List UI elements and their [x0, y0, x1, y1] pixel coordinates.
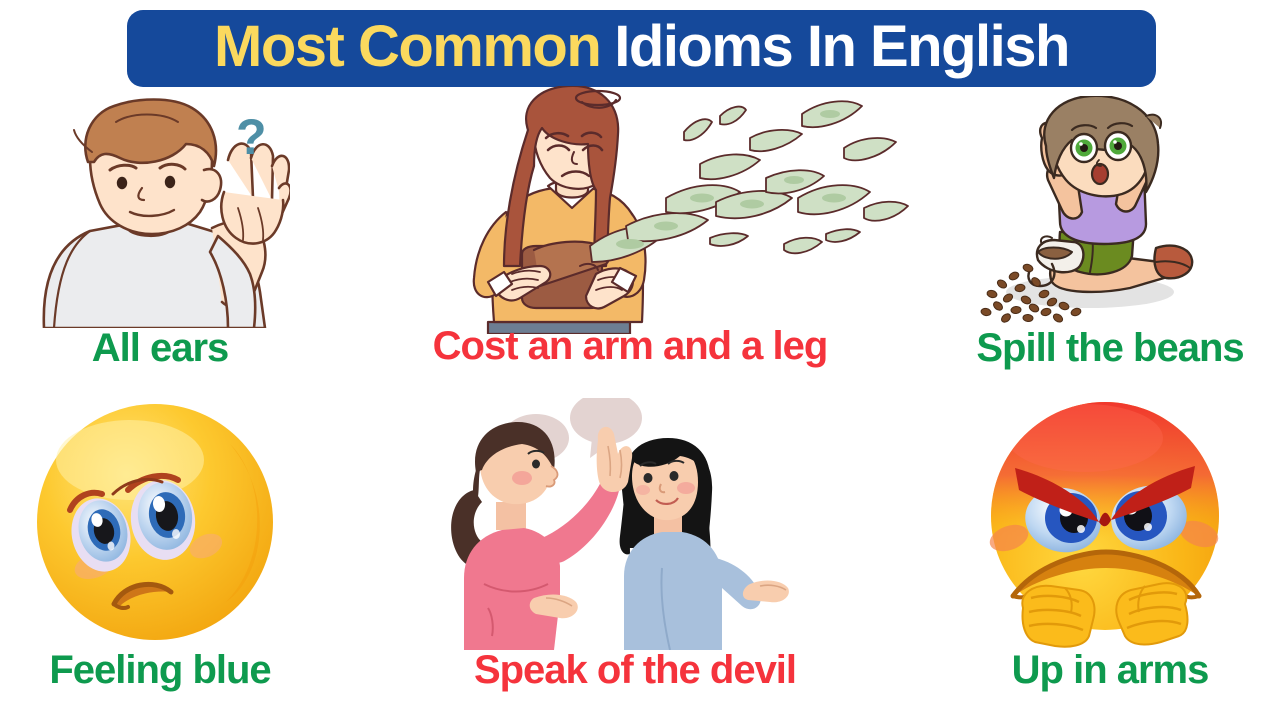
idiom-label-spill-the-beans: Spill the beans	[940, 328, 1280, 368]
illustration-angry-red-faced-emoji-with-fists	[975, 398, 1245, 648]
question-mark-glyph: ?	[236, 109, 267, 165]
idiom-card-spill-the-beans: Spill the beans	[940, 92, 1280, 392]
illustration-sad-yellow-emoji-face	[18, 398, 298, 648]
woman-in-blue	[620, 438, 789, 650]
title-main-text: Idioms In English	[614, 18, 1069, 76]
illustration-man-cupping-ear-with-question-mark: ?	[32, 96, 290, 328]
idiom-card-feeling-blue: Feeling blue	[0, 398, 320, 714]
illustration-child-with-spilled-cup-of-beans	[980, 96, 1240, 326]
idiom-label-all-ears: All ears	[0, 328, 320, 368]
illustration-woman-with-empty-wallet-money-flying-away	[450, 86, 930, 334]
idiom-card-cost-an-arm-and-a-leg: Cost an arm and a leg	[330, 86, 930, 392]
idiom-label-up-in-arms: Up in arms	[940, 650, 1280, 690]
idiom-label-speak-of-the-devil: Speak of the devil	[400, 650, 870, 690]
idiom-label-cost-an-arm-and-a-leg: Cost an arm and a leg	[330, 326, 930, 366]
title-banner: Most Common Idioms In English	[127, 10, 1156, 87]
title-highlight-text: Most Common	[214, 18, 600, 76]
svg-text:?: ?	[236, 109, 267, 165]
idiom-card-up-in-arms: Up in arms	[940, 398, 1280, 714]
idiom-card-all-ears: ? All ears	[0, 92, 320, 392]
infographic-page: Most Common Idioms In English	[0, 0, 1280, 720]
illustration-two-women-talking-with-speech-bubbles	[430, 398, 790, 650]
idiom-label-feeling-blue: Feeling blue	[0, 650, 320, 690]
woman-in-pink	[451, 422, 632, 650]
idiom-card-speak-of-the-devil: Speak of the devil	[400, 398, 870, 714]
